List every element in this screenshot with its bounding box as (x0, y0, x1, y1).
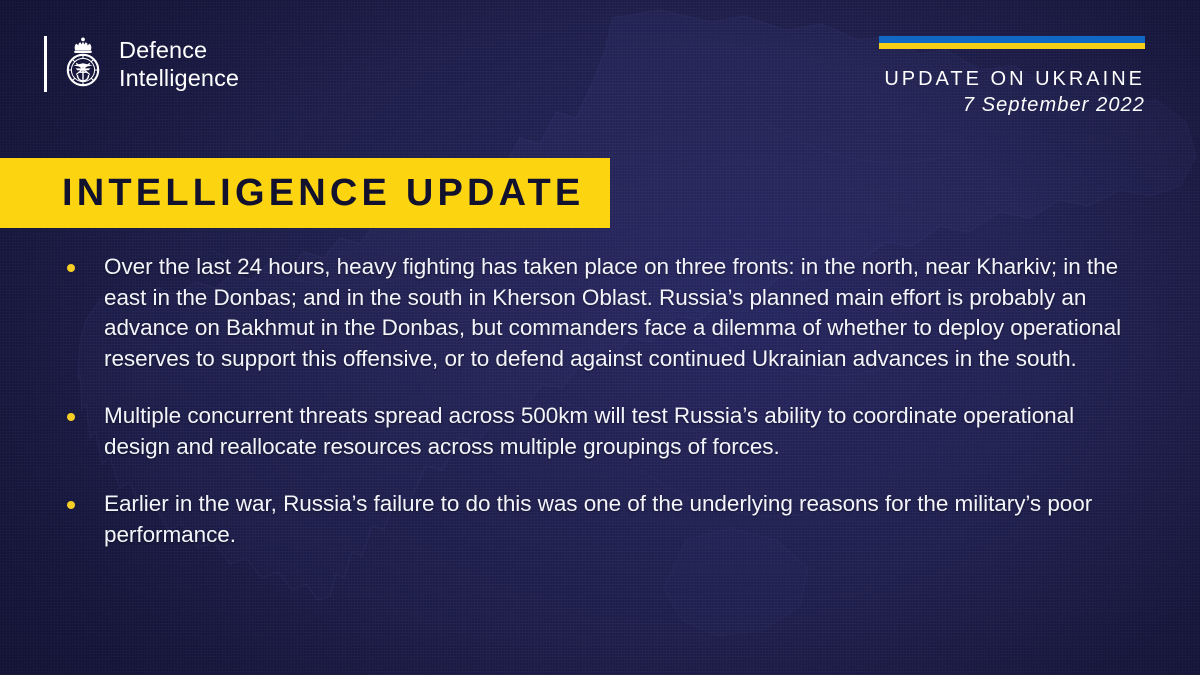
brand-divider-rule (44, 36, 47, 92)
bullet-text: Multiple concurrent threats spread acros… (104, 401, 1142, 462)
list-item: Multiple concurrent threats spread acros… (62, 401, 1142, 462)
update-header-block: UPDATE ON UKRAINE 7 September 2022 (879, 36, 1145, 119)
update-date: 7 September 2022 (879, 92, 1145, 119)
bullet-list: Over the last 24 hours, heavy fighting h… (62, 252, 1142, 550)
list-item: Over the last 24 hours, heavy fighting h… (62, 252, 1142, 374)
brand-name: Defence Intelligence (119, 36, 239, 92)
brand-line-1: Defence (119, 36, 239, 64)
brand-line-2: Intelligence (119, 64, 239, 92)
flag-stripe-blue (879, 36, 1145, 43)
intelligence-update-banner: INTELLIGENCE UPDATE (0, 158, 610, 228)
bullet-dot-icon (67, 264, 75, 272)
bullet-text: Over the last 24 hours, heavy fighting h… (104, 252, 1142, 374)
flag-stripe-yellow (879, 43, 1145, 49)
bullet-dot-icon (67, 413, 75, 421)
banner-label: INTELLIGENCE UPDATE (62, 173, 584, 213)
brand-lockup: Defence Intelligence (44, 36, 239, 92)
intelligence-update-slide: Defence Intelligence UPDATE ON UKRAINE 7… (0, 0, 1200, 675)
bullet-text: Earlier in the war, Russia’s failure to … (104, 489, 1142, 550)
update-title: UPDATE ON UKRAINE (879, 67, 1145, 92)
list-item: Earlier in the war, Russia’s failure to … (62, 489, 1142, 550)
defence-intelligence-crest-icon (61, 36, 105, 92)
bullet-dot-icon (67, 501, 75, 509)
ukraine-flag-bar-icon (879, 36, 1145, 49)
